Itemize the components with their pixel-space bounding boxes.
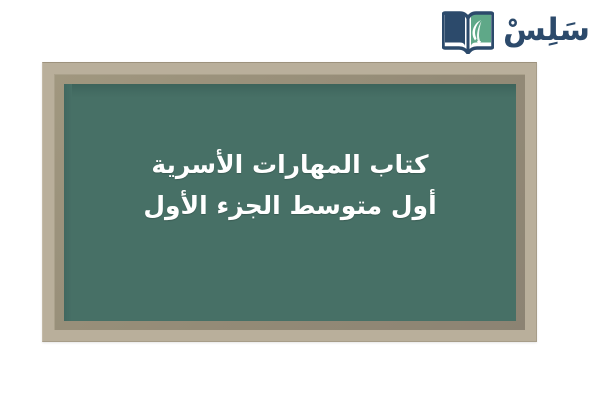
blackboard-left-shadow [64, 84, 72, 321]
blackboard-surface: كتاب المهارات الأسرية أول متوسط الجزء ال… [64, 84, 516, 321]
blackboard-title-line: كتاب المهارات الأسرية [143, 145, 436, 186]
brand-logo[interactable]: سَلِسْ [442, 8, 590, 54]
blackboard-top-shadow [64, 84, 516, 98]
blackboard-inner-frame: كتاب المهارات الأسرية أول متوسط الجزء ال… [54, 74, 525, 330]
blackboard-text-block: كتاب المهارات الأسرية أول متوسط الجزء ال… [143, 145, 436, 260]
open-book-icon [442, 8, 494, 54]
brand-wordmark: سَلِسْ [503, 15, 590, 48]
blackboard-subtitle-line: أول متوسط الجزء الأول [143, 186, 436, 227]
blackboard: كتاب المهارات الأسرية أول متوسط الجزء ال… [42, 62, 537, 342]
